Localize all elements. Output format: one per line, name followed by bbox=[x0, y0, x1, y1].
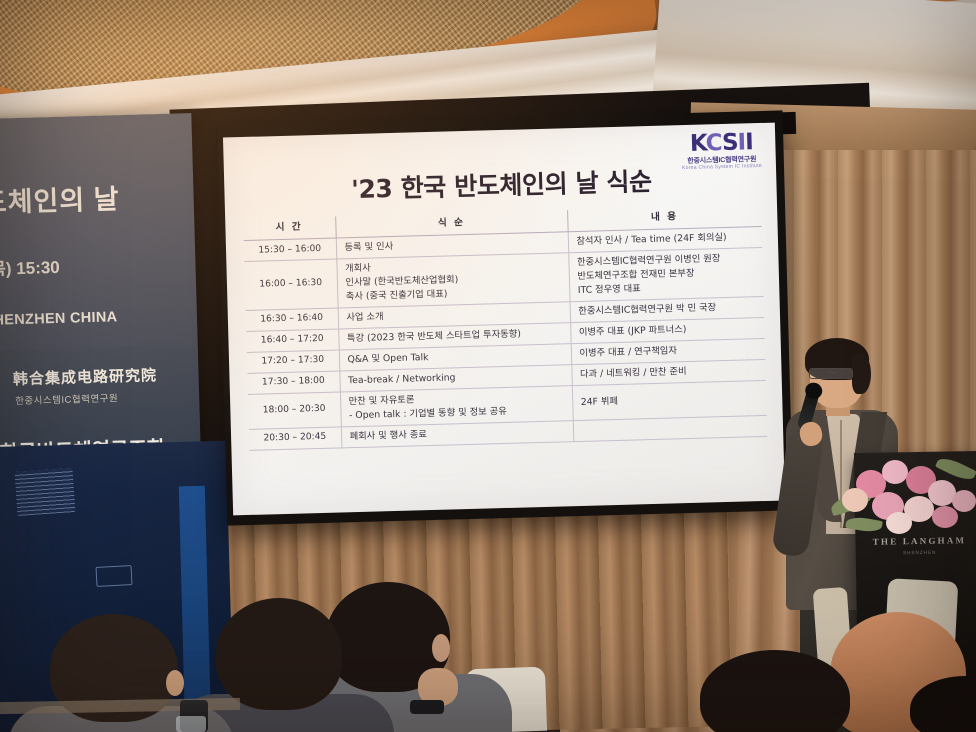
flower-arrangement bbox=[828, 440, 976, 544]
agenda-cell-note bbox=[573, 415, 767, 441]
circuit-chip-small-icon bbox=[96, 565, 133, 587]
presentation-slide: KCSII 한중시스템IC협력연구원 Korea China System IC… bbox=[223, 123, 785, 516]
podium-brand-sub: SHENZHEN bbox=[868, 549, 972, 556]
agenda-cell-time: 15:30 – 16:00 bbox=[244, 238, 337, 261]
kcsi-wordmark-icon: KCSII bbox=[681, 131, 762, 156]
agenda-cell-note: 24F 뷔페 bbox=[572, 380, 767, 420]
kcsi-letter-k: K bbox=[690, 130, 706, 156]
agenda-cell-time: 16:40 – 17:20 bbox=[246, 329, 339, 352]
banner-title: 국 반도체인의 날 bbox=[0, 175, 192, 222]
agenda-header-time: 시 간 bbox=[243, 217, 336, 241]
agenda-cell-time: 17:20 – 17:30 bbox=[247, 350, 340, 373]
circuit-chip-icon bbox=[15, 468, 76, 516]
agenda-cell-time: 16:00 – 16:30 bbox=[244, 259, 337, 310]
speaker-glasses-icon bbox=[809, 368, 853, 379]
kcsi-mark-icon: SI! bbox=[0, 365, 1, 395]
speaker-hair-side bbox=[852, 354, 871, 394]
audience-member-4 bbox=[690, 650, 880, 732]
agenda-cell-time: 16:30 – 16:40 bbox=[246, 308, 339, 331]
kcsi-korean-name: 한중시스템IC협력연구원 bbox=[15, 389, 158, 407]
agenda-table: 시 간 식 순 내 용 15:30 – 16:00등록 및 인사참석자 인사 /… bbox=[243, 205, 767, 451]
agenda-body: 15:30 – 16:00등록 및 인사참석자 인사 / Tea time (2… bbox=[244, 227, 767, 450]
wristwatch-icon bbox=[410, 700, 444, 714]
banner-date: 11. 09 (목) 15:30 bbox=[0, 249, 204, 282]
agenda-cell-note: 한중시스템IC협력연구원 이병인 원장 반도체연구조합 전재민 본부장 ITC … bbox=[568, 248, 763, 302]
water-glass-icon bbox=[176, 716, 206, 732]
kcsi-letter-s: S bbox=[722, 130, 738, 156]
agenda-cell-time: 20:30 – 20:45 bbox=[249, 427, 342, 450]
banner-logo-kcsi: SI! 韩合集成电路研究院 한중시스템IC협력연구원 bbox=[0, 360, 158, 408]
kcsi-letter-i2: I bbox=[745, 129, 753, 155]
banner-venue: NGHAM SHENZHEN CHINA bbox=[0, 306, 205, 330]
audience-member-2 bbox=[190, 598, 380, 732]
audience-member-6 bbox=[910, 676, 976, 732]
conference-room-scene: 국 반도체인의 날 11. 09 (목) 15:30 NGHAM SHENZHE… bbox=[0, 0, 976, 732]
slide-kcsi-logo: KCSII 한중시스템IC협력연구원 Korea China System IC… bbox=[681, 131, 762, 171]
kcsi-chinese-name: 韩合集成电路研究院 bbox=[13, 364, 158, 389]
agenda-cell-program: 개회사 인사말 (한국반도체산업협회) 축사 (중국 진출기업 대표) bbox=[336, 253, 569, 308]
agenda-cell-time: 17:30 – 18:00 bbox=[247, 371, 340, 394]
agenda-cell-time: 18:00 – 20:30 bbox=[248, 392, 341, 429]
kcsi-letter-c: C bbox=[705, 130, 722, 156]
